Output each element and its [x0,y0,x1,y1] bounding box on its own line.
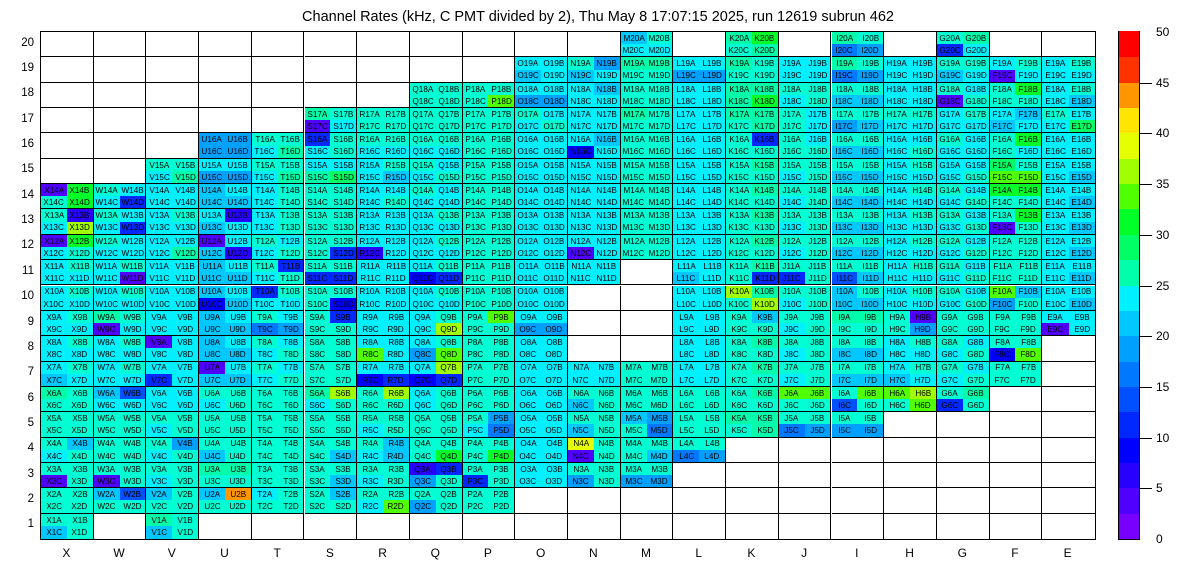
channel-label: K11A [729,262,748,271]
paddle-cell-u5: U5AU5BU5CU5D [199,412,252,437]
channel-n19d: N19D [594,70,620,82]
channel-label: I7B [864,363,876,372]
channel-l5d: L5D [699,424,725,436]
channel-s8a: S8A [305,336,331,348]
channel-s8c: S8C [305,348,331,360]
channel-h10c: H10C [884,298,910,310]
channel-label: X14D [70,198,90,207]
channel-label: O7D [546,376,563,385]
channel-label: Q13B [438,211,459,220]
channel-label: H13D [913,223,934,232]
channel-label: U15A [202,161,222,170]
y-axis-tick-15: 15 [8,163,34,175]
paddle-cell-v12: V12AV12BV12CV12D [146,235,199,260]
channel-h17d: H17D [910,120,936,132]
paddle-cell-s17: S17AS17BS17CS17D [305,108,358,133]
paddle-cell-q14: Q14AQ14BQ14CQ14D [410,184,463,209]
channel-label: T2B [283,490,298,499]
channel-n4d: N4D [594,450,620,462]
paddle-cell-r4: R4AR4BR4CR4D [357,438,410,463]
channel-label: I16A [836,135,853,144]
channel-s15c: S15C [305,171,331,183]
channel-j11d: J11D [805,272,831,284]
channel-k18b: K18B [752,83,778,95]
channel-l8b: L8B [699,336,725,348]
paddle-cell-j8: J8AJ8BJ8CJ8D [779,336,832,361]
channel-t15c: T15C [252,171,278,183]
channel-label: G6A [942,389,958,398]
channel-label: P12B [491,237,511,246]
channel-o6c: O6C [515,399,541,411]
channel-label: R14C [360,198,381,207]
channel-label: M6C [625,401,642,410]
channel-label: J10B [808,287,827,296]
paddle-cell-i14: I14AI14BI14CI14D [832,184,885,209]
channel-f13c: F13C [990,222,1016,234]
channel-label: M5B [651,414,668,423]
paddle-cell-u11: U11AU11BU11CU11D [199,260,252,285]
channel-label: S13B [333,211,353,220]
channel-label: G9C [941,325,958,334]
channel-label: K7A [731,363,746,372]
paddle-cell [621,260,674,285]
channel-label: X8D [72,350,88,359]
channel-l18a: L18A [673,83,699,95]
paddle-cell-p17: P17AP17BP17CP17D [463,108,516,133]
x-axis-tick-l: L [672,546,726,560]
channel-t11b: T11B [278,260,304,272]
paddle-cell-l12: L12AL12BL12CL12D [673,235,726,260]
channel-label: U3B [230,465,246,474]
channel-i17a: I17A [832,108,858,120]
channel-label: J5A [785,414,799,423]
channel-label: O19C [518,71,539,80]
channel-label: O18C [518,97,539,106]
channel-label: T15D [281,173,301,182]
channel-x3d: X3D [67,475,93,487]
paddle-cell-w3: W3AW3BW3CW3D [94,463,147,488]
channel-label: F7B [1021,363,1036,372]
channel-v9a: V9A [146,311,172,323]
channel-label: W2B [124,490,142,499]
channel-m15b: M15B [647,159,673,171]
channel-r13d: R13D [383,222,409,234]
channel-label: J16A [782,135,801,144]
channel-label: F17C [993,122,1013,131]
channel-label: J12C [782,249,801,258]
channel-f11c: F11C [990,272,1016,284]
channel-g8c: G8C [937,348,963,360]
channel-label: O5B [546,414,562,423]
channel-label: F12D [1018,249,1038,258]
channel-w12a: W12A [94,235,120,247]
channel-u14b: U14B [225,184,251,196]
channel-g7d: G7D [963,374,989,386]
channel-label: G16B [965,135,986,144]
channel-x13a: X13A [41,209,67,221]
channel-label: V12A [149,237,169,246]
channel-label: H7D [915,376,931,385]
channel-label: G12C [939,249,960,258]
channel-label: L6C [679,401,694,410]
channel-x10a: X10A [41,286,67,298]
channel-label: J10D [808,300,827,309]
channel-label: X8A [46,338,61,347]
channel-w13d: W13D [120,222,146,234]
paddle-cell-h7: H7AH7BH7CH7D [884,362,937,387]
channel-label: T2D [283,502,298,511]
channel-label: P8D [493,350,509,359]
channel-label: T16D [281,147,301,156]
channel-k13b: K13B [752,209,778,221]
channel-s11d: S11D [330,272,356,284]
channel-label: G11B [966,262,986,271]
paddle-cell-o6: O6AO6BO6CO6D [515,387,568,412]
channel-i20c: I20C [832,44,858,56]
channel-label: F7D [1021,376,1036,385]
channel-label: G15A [939,161,960,170]
channel-r17d: R17D [383,120,409,132]
channel-p2b: P2B [488,488,514,500]
channel-label: T16A [255,135,275,144]
channel-r13a: R13A [357,209,383,221]
channel-u10a: U10A [199,286,225,298]
channel-label: E19D [1072,71,1092,80]
channel-label: J18D [808,97,827,106]
paddle-cell-i11: I11AI11BI11CI11D [832,260,885,285]
channel-x12b: X12B [67,235,93,247]
channel-label: K8D [757,350,773,359]
channel-l15c: L15C [673,171,699,183]
channel-n4c: N4C [568,450,594,462]
channel-label: L7C [679,376,694,385]
channel-q16d: Q16D [436,146,462,158]
channel-label: E12D [1072,249,1092,258]
channel-label: F12B [1019,237,1039,246]
channel-label: J15C [782,173,801,182]
paddle-cell-m15: M15AM15BM15CM15D [621,159,674,184]
y-axis-tick-4: 4 [8,442,34,454]
channel-t2c: T2C [252,500,278,512]
channel-label: O19B [544,59,565,68]
channel-o8c: O8C [515,348,541,360]
channel-label: Q17B [438,110,459,119]
channel-label: P15A [466,161,486,170]
channel-label: S3D [335,477,351,486]
channel-u3d: U3D [225,475,251,487]
channel-label: K16D [755,147,775,156]
channel-o9c: O9C [515,323,541,335]
channel-h19d: H19D [910,70,936,82]
channel-label: O4C [520,452,537,461]
channel-label: Q10D [438,300,459,309]
channel-p11c: P11C [463,272,489,284]
channel-t2a: T2A [252,488,278,500]
channel-label: I5D [864,426,877,435]
channel-k11a: K11A [726,260,752,272]
channel-j19d: J19D [805,70,831,82]
channel-label: K13A [729,211,749,220]
channel-r3a: R3A [357,463,383,475]
channel-label: S5C [309,426,325,435]
channel-label: F10B [1019,287,1039,296]
channel-label: L11D [703,274,722,283]
channel-p13a: P13A [463,209,489,221]
channel-e9d: E9D [1069,323,1095,335]
x-axis-tick-r: R [356,546,410,560]
channel-label: Q18A [412,85,433,94]
channel-label: Q16C [412,147,433,156]
channel-h13b: H13B [910,209,936,221]
channel-m12a: M12A [621,235,647,247]
y-axis-tick-19: 19 [8,62,34,74]
paddle-cell-t15: T15AT15BT15CT15D [252,159,305,184]
channel-label: V11D [175,274,195,283]
channel-r14d: R14D [383,196,409,208]
channel-k5b: K5B [752,412,778,424]
channel-f11a: F11A [990,260,1016,272]
channel-label: L16C [677,147,697,156]
channel-label: O16A [518,135,539,144]
channel-g8a: G8A [937,336,963,348]
channel-label: S17A [307,110,327,119]
channel-x13d: X13D [67,222,93,234]
channel-m5d: M5D [647,424,673,436]
channel-label: V5B [177,414,192,423]
channel-q10c: Q10C [410,298,436,310]
channel-k9c: K9C [726,323,752,335]
channel-k15d: K15D [752,171,778,183]
channel-r17b: R17B [383,108,409,120]
channel-e9c: E9C [1042,323,1068,335]
channel-label: I15D [862,173,879,182]
y-axis-tick-10: 10 [8,290,34,302]
channel-m3b: M3B [647,463,673,475]
channel-label: U6B [230,389,246,398]
channel-k18c: K18C [726,95,752,107]
channel-p16c: P16C [463,146,489,158]
channel-label: Q4B [440,439,456,448]
channel-n14b: N14B [594,184,620,196]
paddle-cell [252,32,305,57]
channel-r15d: R15D [383,171,409,183]
channel-h14a: H14A [884,184,910,196]
paddle-cell-h8: H8AH8BH8CH8D [884,336,937,361]
channel-v13a: V13A [146,209,172,221]
channel-label: M3D [651,477,668,486]
channel-label: O9B [546,313,562,322]
channel-v13c: V13C [146,222,172,234]
colorbar-tick-label-45: 45 [1156,76,1169,90]
paddle-cell-m14: M14AM14BM14CM14D [621,184,674,209]
paddle-cell-q5: Q5AQ5BQ5CQ5D [410,412,463,437]
channel-label: L6D [705,401,720,410]
channel-e10a: E10A [1042,286,1068,298]
paddle-cell-q8: Q8AQ8BQ8CQ8D [410,336,463,361]
channel-r16b: R16B [383,133,409,145]
paddle-cell [884,412,937,437]
channel-h10a: H10A [884,286,910,298]
channel-i11c: I11C [832,272,858,284]
channel-label: J17A [782,110,801,119]
paddle-cell-p9: P9AP9BP9CP9D [463,311,516,336]
channel-label: S11A [308,262,327,271]
channel-label: H19D [913,71,934,80]
channel-label: P13A [466,211,486,220]
channel-label: Q11D [438,274,459,283]
channel-label: Q16B [438,135,459,144]
paddle-cell-f19: F19AF19BF19CF19D [990,57,1043,82]
channel-label: V15A [149,161,169,170]
channel-t16a: T16A [252,133,278,145]
channel-label: W2A [98,490,116,499]
channel-label: L19C [677,71,697,80]
paddle-cell [726,514,779,539]
channel-label: N14C [570,198,591,207]
channel-label: U16B [228,135,248,144]
channel-label: O5D [546,426,563,435]
channel-label: X14C [44,198,64,207]
channel-label: K20C [729,46,749,55]
channel-label: J10C [782,300,801,309]
channel-m3c: M3C [621,475,647,487]
channel-e10b: E10B [1069,286,1095,298]
channel-n16a: N16A [568,133,594,145]
channel-label: K17C [729,122,749,131]
channel-m3a: M3A [621,463,647,475]
channel-s13d: S13D [330,222,356,234]
channel-l6d: L6D [699,399,725,411]
channel-x2a: X2A [41,488,67,500]
channel-h15d: H15D [910,171,936,183]
paddle-cell [990,514,1043,539]
paddle-cell-k6: K6AK6BK6CK6D [726,387,779,412]
channel-label: S2B [336,490,351,499]
channel-label: L19A [677,59,696,68]
channel-label: T15C [255,173,275,182]
channel-x2c: X2C [41,500,67,512]
channel-label: O11C [518,274,539,283]
channel-i12b: I12B [857,235,883,247]
channel-l14b: L14B [699,184,725,196]
channel-k13d: K13D [752,222,778,234]
channel-k15a: K15A [726,159,752,171]
channel-s6d: S6D [330,399,356,411]
channel-label: M7D [651,376,668,385]
channel-e13d: E13D [1069,222,1095,234]
channel-label: G15D [965,173,986,182]
channel-j18c: J18C [779,95,805,107]
paddle-cell-s10: S10AS10BS10CS10D [305,286,358,311]
channel-x3c: X3C [41,475,67,487]
channel-label: N12B [597,237,617,246]
channel-m4b: M4B [647,438,673,450]
channel-label: X10B [70,287,90,296]
channel-m14a: M14A [621,184,647,196]
channel-label: T9A [257,313,272,322]
channel-label: J18C [782,97,801,106]
channel-n12d: N12D [594,247,620,259]
channel-l18d: L18D [699,95,725,107]
channel-q4d: Q4D [436,450,462,462]
channel-k17d: K17D [752,120,778,132]
channel-k16d: K16D [752,146,778,158]
channel-label: N12C [570,249,591,258]
channel-k20d: K20D [752,44,778,56]
channel-k6a: K6A [726,387,752,399]
channel-label: S15D [333,173,353,182]
channel-label: K15A [729,161,749,170]
channel-label: Q4A [415,439,431,448]
channel-q14c: Q14C [410,196,436,208]
channel-u3c: U3C [199,475,225,487]
channel-label: T5D [283,426,298,435]
channel-label: G17C [939,122,960,131]
channel-label: U6D [230,401,246,410]
channel-label: E11D [1072,274,1092,283]
channel-label: P15B [491,161,511,170]
channel-x7d: X7D [67,374,93,386]
channel-w10a: W10A [94,286,120,298]
channel-label: I15B [862,161,879,170]
channel-i18d: I18D [857,95,883,107]
channel-f14d: F14D [1015,196,1041,208]
channel-label: M15C [623,173,645,182]
channel-label: Q17C [412,122,433,131]
channel-l13a: L13A [673,209,699,221]
channel-s10c: S10C [305,298,331,310]
channel-label: U7D [230,376,246,385]
channel-x2d: X2D [67,500,93,512]
channel-t6a: T6A [252,387,278,399]
paddle-cell-h13: H13AH13BH13CH13D [884,209,937,234]
channel-label: O3A [520,465,536,474]
channel-x10c: X10C [41,298,67,310]
channel-label: G8D [967,350,984,359]
channel-t5b: T5B [278,412,304,424]
channel-n11d: N11D [594,272,620,284]
channel-w9d: W9D [120,323,146,335]
paddle-cell-j7: J7AJ7BJ7CJ7D [779,362,832,387]
paddle-cell-j10: J10AJ10BJ10CJ10D [779,286,832,311]
channel-k10b: K10B [752,286,778,298]
channel-label: V14D [175,198,195,207]
channel-label: X2A [46,490,61,499]
channel-label: L15D [702,173,722,182]
paddle-cell-x13: X13AX13BX13CX13D [41,209,94,234]
channel-e12b: E12B [1069,235,1095,247]
channel-s14d: S14D [330,196,356,208]
channel-j5d: J5D [805,424,831,436]
channel-r8d: R8D [383,348,409,360]
channel-label: Q11B [439,262,459,271]
channel-label: L7A [679,363,694,372]
paddle-cell-r11: R11AR11BR11CR11D [357,260,410,285]
channel-label: W11A [96,262,118,271]
channel-v15a: V15A [146,159,172,171]
channel-g6d: G6D [963,399,989,411]
paddle-cell-p8: P8AP8BP8CP8D [463,336,516,361]
channel-q6b: Q6B [436,387,462,399]
channel-label: T11A [255,262,274,271]
channel-l6c: L6C [673,399,699,411]
paddle-cell-l10: L10AL10BL10CL10D [673,286,726,311]
paddle-cell-x11: X11AX11BX11CX11D [41,260,94,285]
channel-w11c: W11C [94,272,120,284]
channel-label: I19A [836,59,853,68]
channel-p18b: P18B [488,83,514,95]
channel-r13b: R13B [383,209,409,221]
